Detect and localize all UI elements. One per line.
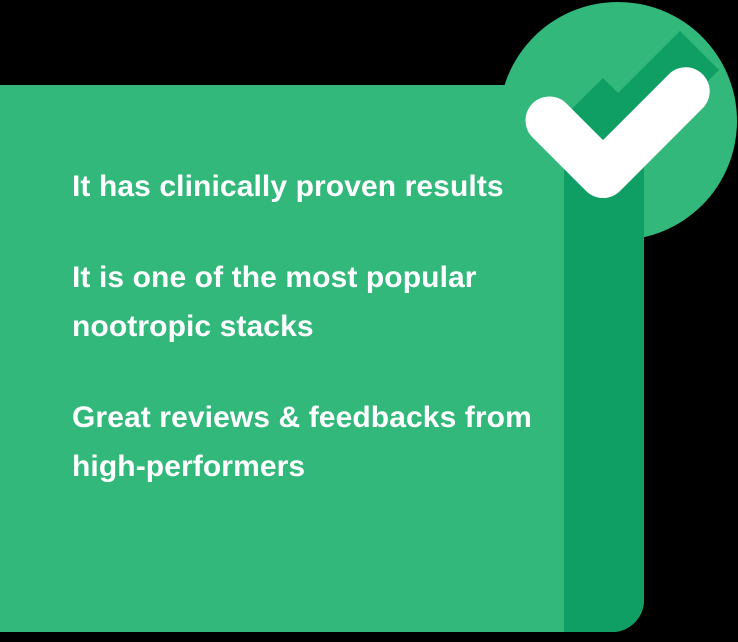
benefits-callout-card: It has clinically proven results It is o…: [0, 0, 738, 642]
statement-list: It has clinically proven results It is o…: [72, 163, 602, 491]
statement-item: It is one of the most popular nootropic …: [72, 254, 602, 352]
statement-item: Great reviews & feedbacks from high-perf…: [72, 394, 602, 492]
statement-item: It has clinically proven results: [72, 163, 602, 212]
